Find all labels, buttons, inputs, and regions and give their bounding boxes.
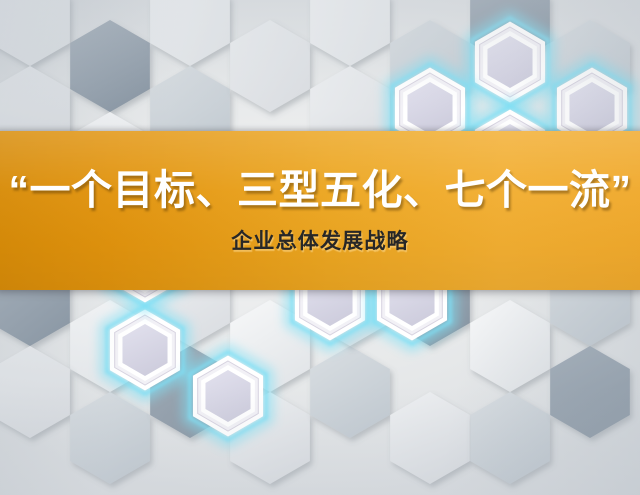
page-subtitle: 企业总体发展战略 <box>231 231 409 252</box>
slide-root: “一个目标、三型五化、七个一流” 企业总体发展战略 <box>0 0 640 495</box>
glowing-hexagon <box>104 303 185 397</box>
glowing-hexagon <box>187 349 268 443</box>
glowing-hexagon <box>469 15 550 109</box>
title-banner: “一个目标、三型五化、七个一流” 企业总体发展战略 <box>0 131 640 290</box>
page-title: “一个目标、三型五化、七个一流” <box>9 170 632 211</box>
